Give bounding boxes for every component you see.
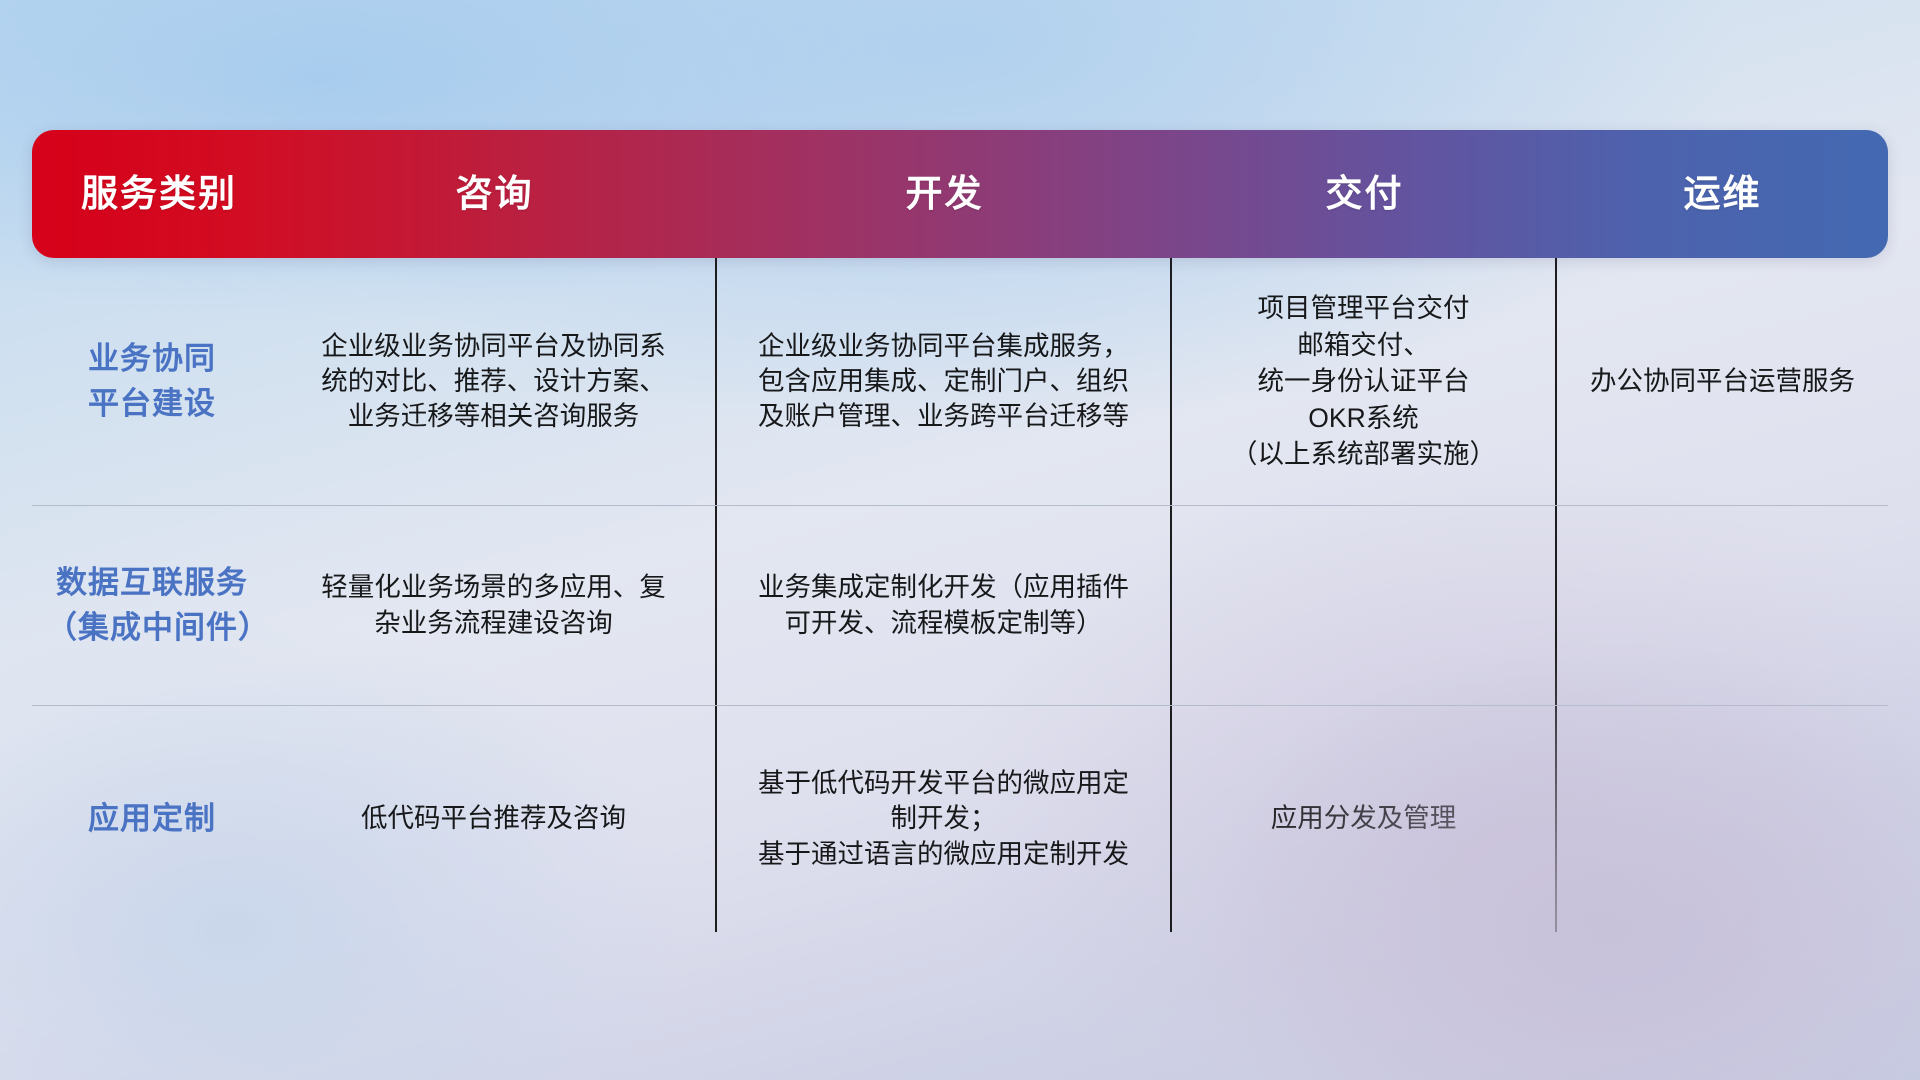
table-body: 业务协同 平台建设 企业级业务协同平台及协同系 统的对比、推荐、设计方案、 业务… xyxy=(32,258,1888,932)
cell-delivery: 应用分发及管理 xyxy=(1172,706,1557,932)
row-category-label: 应用定制 xyxy=(32,706,272,932)
cell-consulting: 轻量化业务场景的多应用、复 杂业务流程建设咨询 xyxy=(272,506,717,705)
services-matrix-table: 服务类别 咨询 开发 交付 运维 业务协同 平台建设 企业级业务协同平台及协同系… xyxy=(32,130,1888,932)
table-header-row: 服务类别 咨询 开发 交付 运维 xyxy=(32,130,1888,258)
cell-operations xyxy=(1557,506,1888,705)
cell-development: 业务集成定制化开发（应用插件 可开发、流程模板定制等） xyxy=(717,506,1172,705)
slide-canvas: 服务类别 咨询 开发 交付 运维 业务协同 平台建设 企业级业务协同平台及协同系… xyxy=(0,0,1920,1080)
column-header-consulting: 咨询 xyxy=(272,130,717,258)
cell-delivery xyxy=(1172,506,1557,705)
row-category-label: 数据互联服务 （集成中间件） xyxy=(32,506,272,705)
row-category-label: 业务协同 平台建设 xyxy=(32,258,272,505)
column-header-operations: 运维 xyxy=(1557,130,1888,258)
table-row: 应用定制 低代码平台推荐及咨询 基于低代码开发平台的微应用定 制开发； 基于通过… xyxy=(32,706,1888,932)
cell-consulting: 企业级业务协同平台及协同系 统的对比、推荐、设计方案、 业务迁移等相关咨询服务 xyxy=(272,258,717,505)
column-header-development: 开发 xyxy=(717,130,1172,258)
cell-operations xyxy=(1557,706,1888,932)
cell-delivery: 项目管理平台交付 邮箱交付、 统一身份认证平台 OKR系统 （以上系统部署实施） xyxy=(1172,258,1557,505)
cell-operations: 办公协同平台运营服务 xyxy=(1557,258,1888,505)
cell-development: 基于低代码开发平台的微应用定 制开发； 基于通过语言的微应用定制开发 xyxy=(717,706,1172,932)
cell-consulting: 低代码平台推荐及咨询 xyxy=(272,706,717,932)
table-row: 数据互联服务 （集成中间件） 轻量化业务场景的多应用、复 杂业务流程建设咨询 业… xyxy=(32,506,1888,706)
column-header-delivery: 交付 xyxy=(1172,130,1557,258)
column-header-service-category: 服务类别 xyxy=(32,130,272,258)
table-row: 业务协同 平台建设 企业级业务协同平台及协同系 统的对比、推荐、设计方案、 业务… xyxy=(32,258,1888,506)
cell-development: 企业级业务协同平台集成服务， 包含应用集成、定制门户、组织 及账户管理、业务跨平… xyxy=(717,258,1172,505)
